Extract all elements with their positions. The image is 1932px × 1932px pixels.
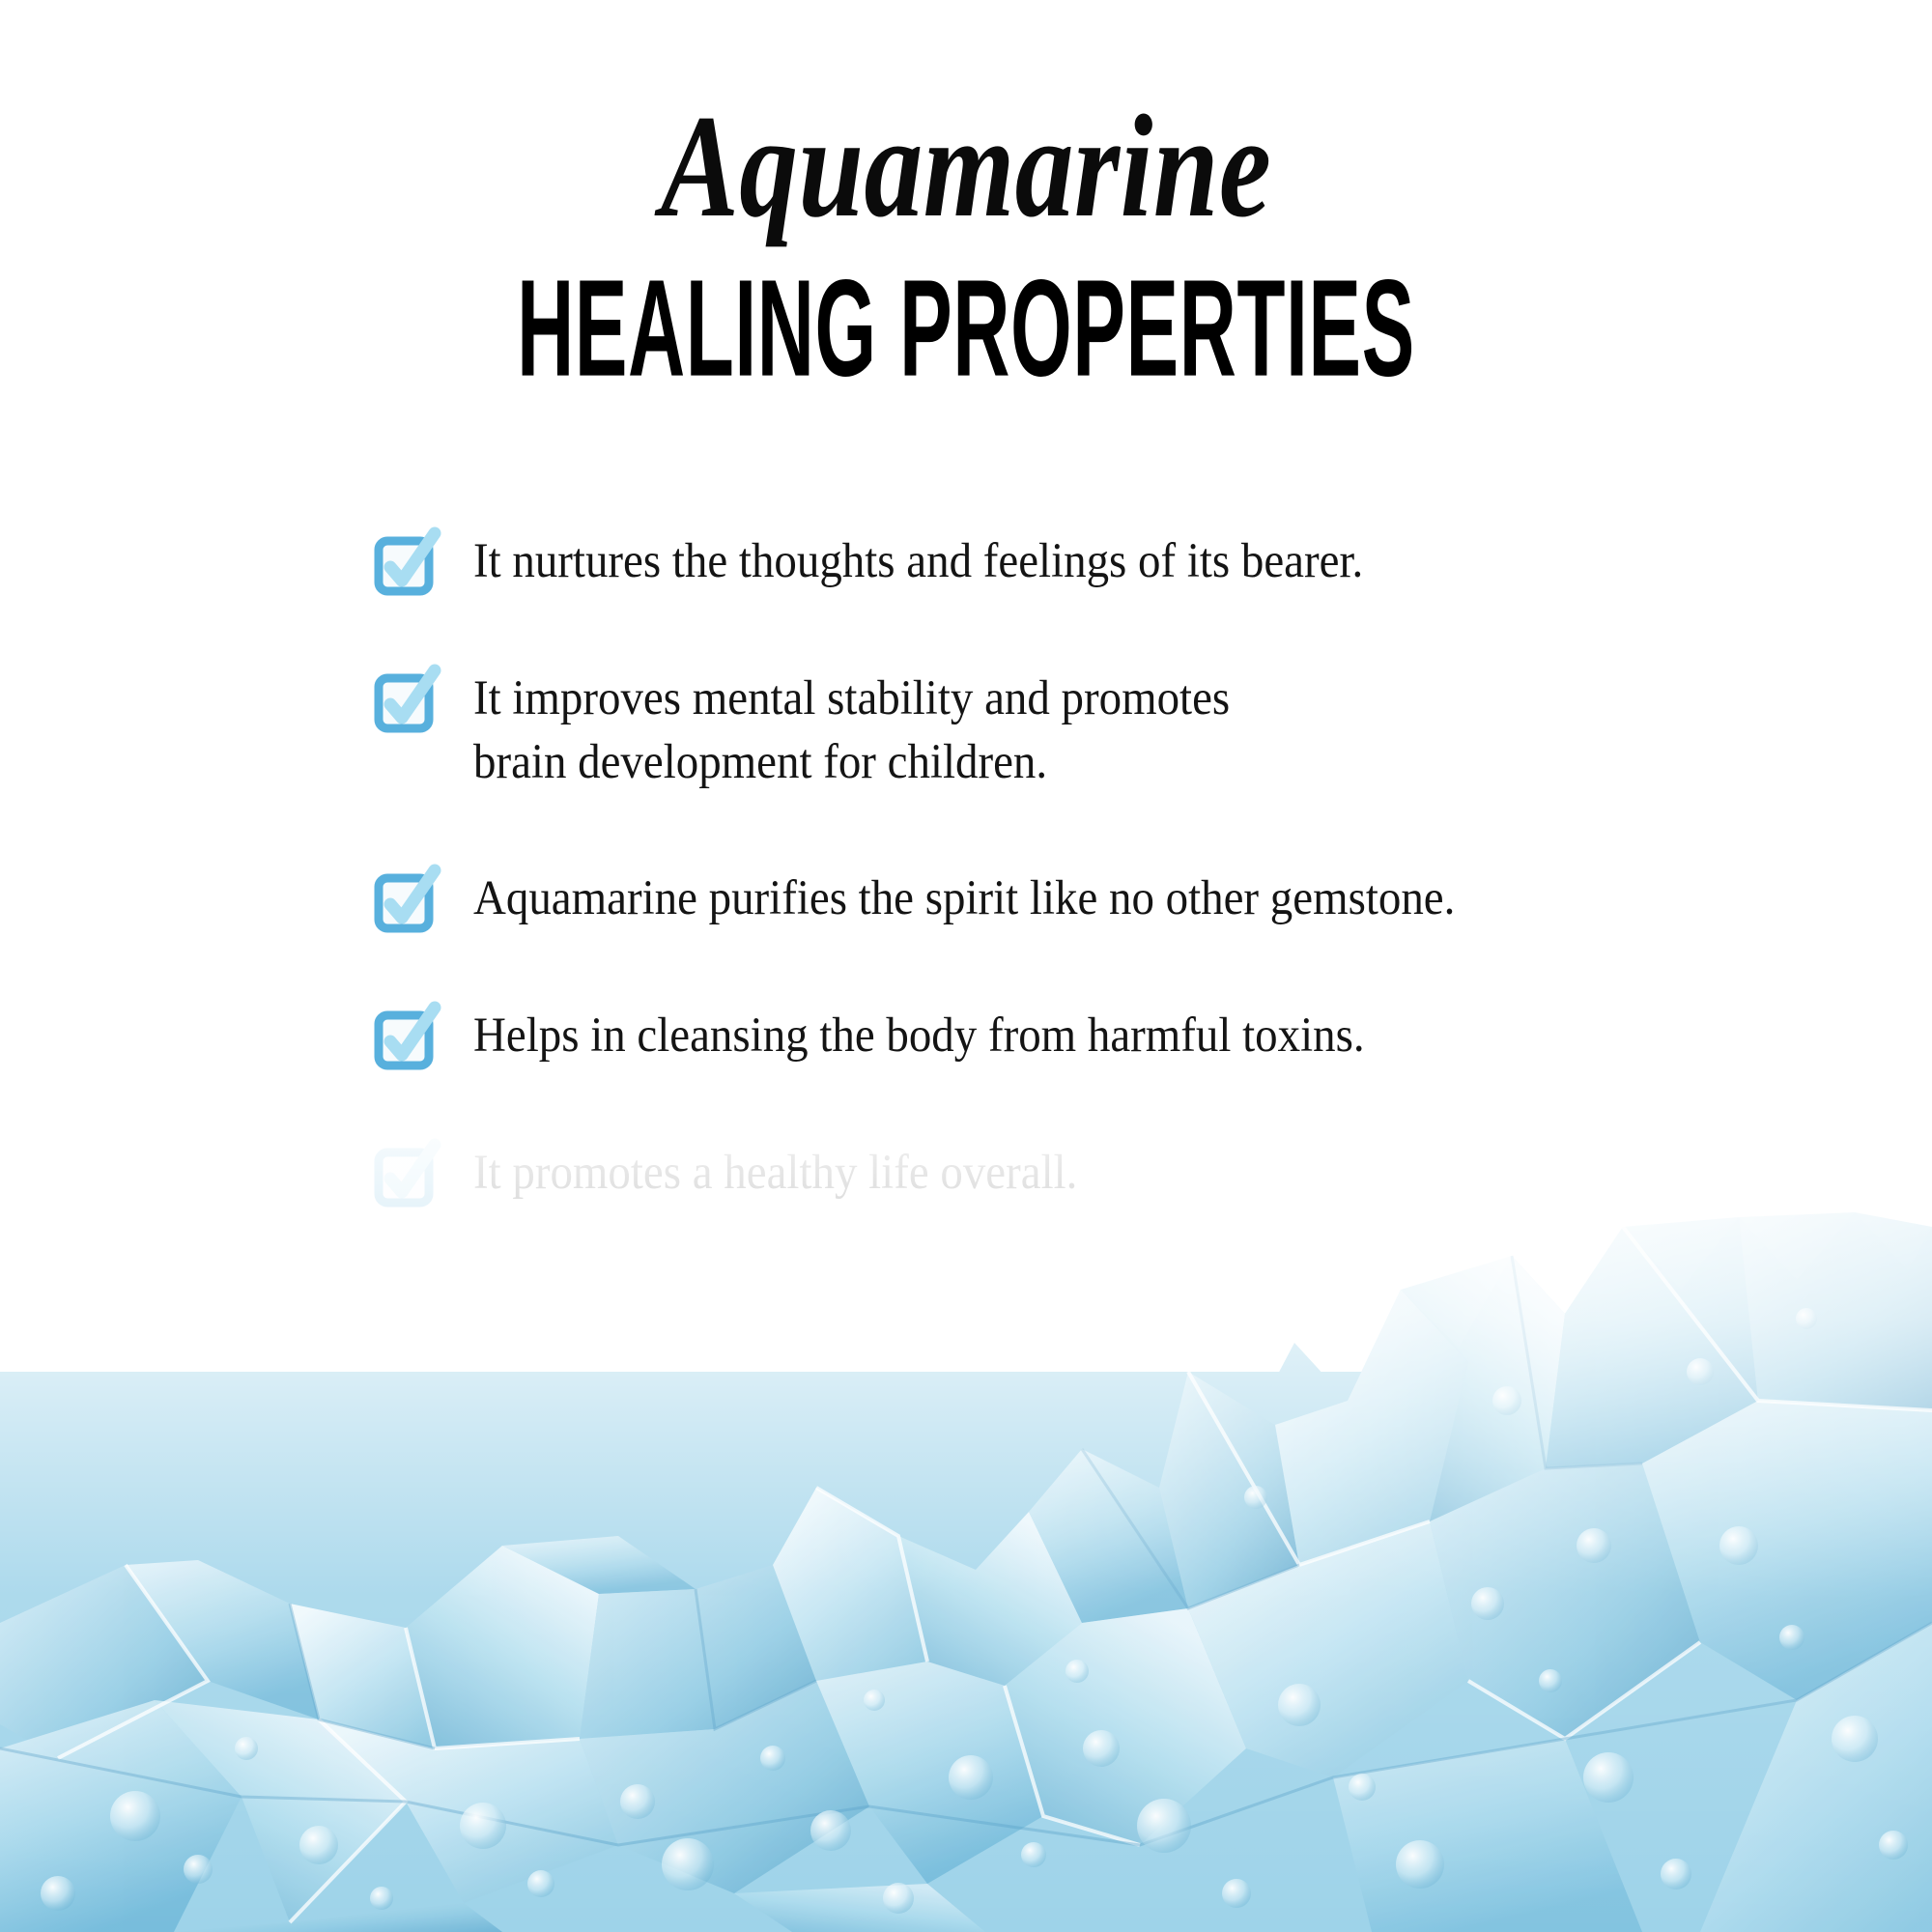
list-item-label: It improves mental stability and promote… [473, 667, 1698, 795]
checkbox-checked-icon [375, 535, 437, 595]
list-item-label: Helps in cleansing the body from harmful… [473, 1004, 1698, 1067]
poster-header: Aquamarine HEALING PROPERTIES [0, 93, 1932, 392]
checkbox-checked-icon [375, 1147, 437, 1207]
healing-properties-list: It nurtures the thoughts and feelings of… [375, 529, 1804, 1207]
list-item: It improves mental stability and promote… [375, 667, 1804, 795]
page-subtitle: HEALING PROPERTIES [367, 260, 1565, 398]
poster-canvas: Aquamarine HEALING PROPERTIES It nurture… [0, 0, 1932, 1932]
checkbox-checked-icon [375, 872, 437, 932]
page-title-script: Aquamarine [193, 93, 1739, 240]
list-item: It promotes a healthy life overall. [375, 1141, 1804, 1207]
list-item: It nurtures the thoughts and feelings of… [375, 529, 1804, 595]
checkbox-checked-icon [375, 1009, 437, 1069]
list-item: Aquamarine purifies the spirit like no o… [375, 867, 1804, 932]
checkbox-checked-icon [375, 672, 437, 732]
list-item-label: It promotes a healthy life overall. [473, 1141, 1698, 1205]
list-item-label: It nurtures the thoughts and feelings of… [473, 529, 1698, 593]
list-item: Helps in cleansing the body from harmful… [375, 1004, 1804, 1069]
ice-cubes-photo [0, 1082, 1932, 1932]
list-item-label: Aquamarine purifies the spirit like no o… [473, 867, 1698, 930]
